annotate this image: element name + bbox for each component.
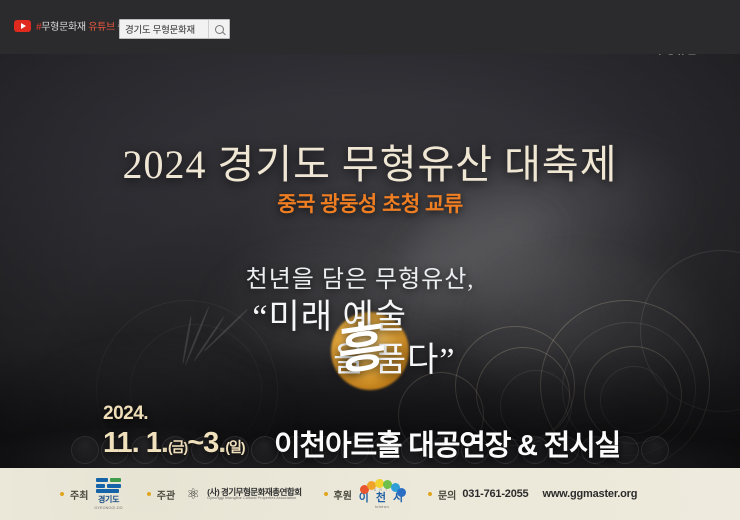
date-tilde: ~3.: [187, 427, 225, 459]
magnifier-icon: [215, 25, 224, 34]
icheon-city-logo: A R T 이 천 시 Icheon: [358, 479, 406, 509]
event-date-range: 11. 1.(금)~3.(일): [103, 429, 245, 458]
gyeonggi-do-logo: 경기도 GYEONGGI-DO: [94, 478, 122, 510]
poster-footer: 주최 경기도 GYEONGGI-DO 주관 ⚛ (사) 경기무형문화재총연합회 …: [0, 468, 740, 520]
search-input[interactable]: 경기도 무형문화재: [119, 19, 230, 39]
search-input-value[interactable]: 경기도 무형문화재: [120, 22, 208, 36]
gyeonggi-do-name: 경기도: [98, 494, 119, 505]
gyeonggi-bars-icon: [96, 478, 121, 493]
contact-label: 문의: [438, 487, 456, 502]
page-title: 2024 경기도 무형유산 대축제: [0, 132, 740, 190]
organizer-name: (사) 경기무형문화재총연합회: [207, 488, 301, 497]
organizer-label: 주관: [157, 487, 175, 502]
association-text: (사) 경기무형문화재총연합회 Gyeonggi Intangible Cult…: [207, 488, 301, 501]
icheon-name-en: Icheon: [375, 504, 389, 509]
host-group: 주최 경기도 GYEONGGI-DO: [60, 478, 123, 510]
association-logo: ⚛ (사) 경기무형문화재총연합회 Gyeonggi Intangible Cu…: [181, 485, 301, 503]
organizer-group: 주관 ⚛ (사) 경기무형문화재총연합회 Gyeonggi Intangible…: [147, 485, 302, 503]
brush-calligraphy: 흥: [337, 302, 387, 384]
event-venue: 이천아트홀 대공연장 & 전시실: [274, 422, 620, 464]
youtube-play-icon[interactable]: [14, 20, 31, 32]
promo-text-group: #무형문화재 유튜브 중계: [14, 18, 135, 33]
search-button[interactable]: [208, 20, 229, 38]
association-emblem-icon: ⚛: [181, 485, 203, 503]
poster-canvas: #무형문화재 유튜브 중계 경기도 무형문화재 2024 경기도: [0, 0, 740, 520]
host-label: 주최: [70, 487, 88, 502]
sponsor-label: 후원: [334, 487, 352, 502]
contact-website[interactable]: www.ggmaster.org: [542, 488, 637, 500]
promo-highlight: 유튜브: [88, 22, 115, 33]
icheon-arc-icon: A R T: [358, 479, 406, 493]
tagline-line-1: 천년을 담은 무형유산,: [0, 259, 740, 294]
date-end-day: (일): [225, 439, 244, 455]
sponsor-group: 후원 A R T 이 천 시 Icheon: [324, 479, 406, 509]
organizer-name-en: Gyeonggi Intangible Cultural Properties …: [207, 496, 301, 500]
poster-stage: 2024 경기도 무형유산 대축제 중국 광둥성 초청 교류 천년을 담은 무형…: [0, 54, 740, 468]
event-year: 2024.: [103, 404, 245, 423]
bullet-icon: [60, 492, 64, 496]
gyeonggi-do-name-en: GYEONGGI-DO: [94, 506, 122, 510]
bullet-icon: [324, 492, 328, 496]
promo-text-part1: 무형문화재: [41, 22, 88, 33]
top-promo-bar: #무형문화재 유튜브 중계 경기도 무형문화재: [0, 0, 740, 54]
event-date-block: 2024. 11. 1.(금)~3.(일): [103, 404, 245, 458]
bullet-icon: [147, 492, 151, 496]
icheon-art-text: A R T: [374, 488, 388, 492]
date-start: 11. 1.: [103, 427, 168, 459]
bullet-icon: [428, 492, 432, 496]
contact-group: 문의 031-761-2055 www.ggmaster.org: [428, 487, 637, 502]
date-start-day: (금): [168, 439, 187, 455]
contact-phone[interactable]: 031-761-2055: [462, 488, 528, 500]
page-subtitle: 중국 광둥성 초청 교류: [0, 188, 740, 218]
